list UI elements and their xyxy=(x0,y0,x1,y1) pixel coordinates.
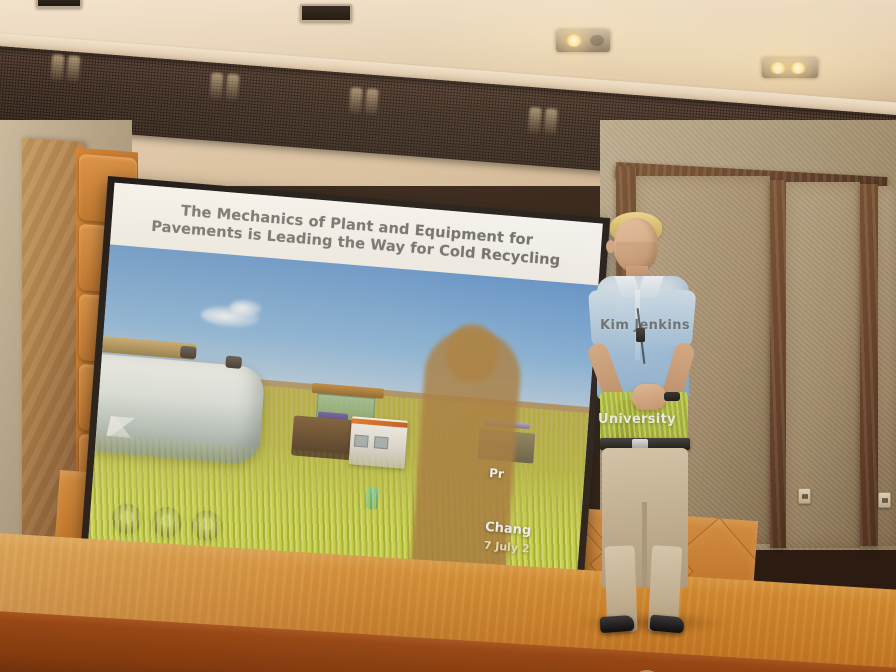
projected-text-on-shirt-lower: University xyxy=(598,412,698,427)
presentation-slide: Pr Chang 7 July 2 The Mechanics of Plant… xyxy=(88,183,603,590)
tanker-hatch-2 xyxy=(225,355,242,368)
projection-screen: Pr Chang 7 July 2 The Mechanics of Plant… xyxy=(88,183,603,590)
slide-overlay-text: Pr Chang 7 July 2 xyxy=(483,465,535,555)
presenter-speaker: Kim Jenkins University xyxy=(592,216,722,636)
power-outlet-icon-2 xyxy=(878,492,891,508)
tanker-hatch-1 xyxy=(180,345,197,358)
spotlight-icon xyxy=(566,34,582,47)
panel-frame-right-post xyxy=(860,184,878,546)
power-outlet-icon xyxy=(798,488,811,504)
spotlight-icon-3 xyxy=(790,62,806,74)
projected-text-on-shirt-upper: Kim Jenkins xyxy=(600,318,692,333)
ceiling-fixture-icon xyxy=(36,0,82,8)
auditorium-photo: Pr Chang 7 July 2 The Mechanics of Plant… xyxy=(0,0,896,672)
presenter-shoe-right xyxy=(649,615,684,634)
slide-presenter-name: Pr xyxy=(489,465,536,483)
slide-background-photo: Pr Chang 7 July 2 xyxy=(88,244,599,589)
microphone-pack-icon xyxy=(636,328,645,342)
projection-screen-assembly: Pr Chang 7 July 2 The Mechanics of Plant… xyxy=(80,176,610,599)
air-vent-icon xyxy=(300,4,352,22)
presenter-ear xyxy=(606,240,615,253)
presenter-wristwatch xyxy=(664,392,680,401)
panel-frame-mid-post xyxy=(770,180,786,548)
spotlight-icon-2 xyxy=(770,62,786,74)
presenter-pants-seam xyxy=(642,502,647,588)
presenter-shoe-left xyxy=(599,615,634,633)
presenter-hands xyxy=(632,384,666,410)
spotlight-lamp-dark-1 xyxy=(590,35,604,46)
recycler-window-2 xyxy=(374,436,389,449)
recycler-window-1 xyxy=(354,435,369,448)
slide-location: Chang xyxy=(485,519,532,538)
